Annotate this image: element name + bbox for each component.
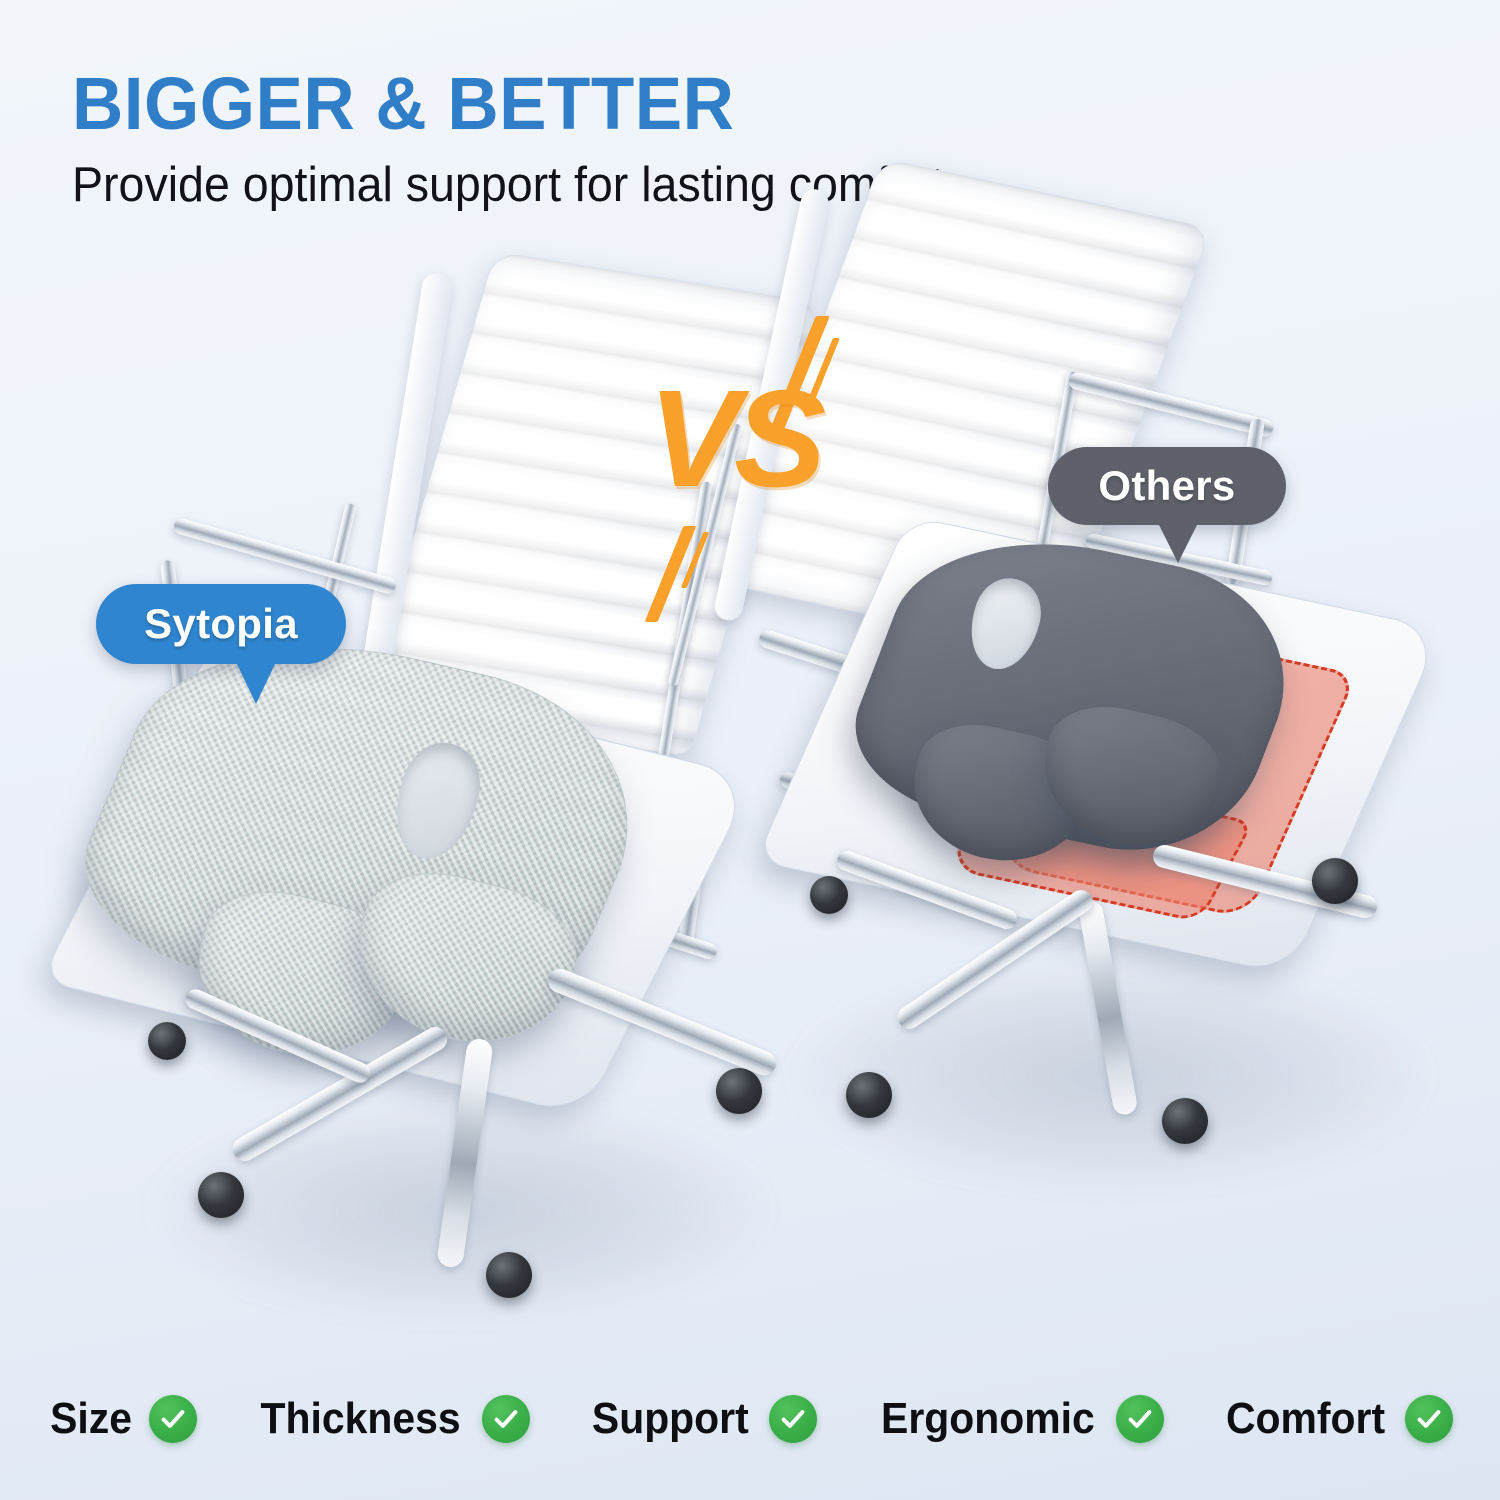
feature-label: Thickness <box>260 1394 460 1444</box>
others-brand-callout: Others <box>1048 447 1286 525</box>
left-chair-caster-right <box>716 1068 762 1114</box>
feature-label: Ergonomic <box>881 1394 1095 1444</box>
left-chair-caster-front <box>486 1252 532 1298</box>
feature-checklist: SizeThicknessSupportErgonomicComfort <box>0 1394 1500 1444</box>
check-circle-icon <box>1405 1395 1453 1443</box>
callout-tail-icon <box>1158 523 1198 563</box>
left-chair-caster-left <box>198 1172 244 1218</box>
right-chair-caster-rear <box>810 876 848 914</box>
callout-tail-icon <box>236 662 276 704</box>
feature-label: Size <box>50 1394 132 1444</box>
check-circle-icon <box>769 1395 817 1443</box>
right-chair-caster-right <box>1312 858 1358 904</box>
feature-label: Comfort <box>1226 1394 1385 1444</box>
feature-item: Support <box>586 1394 817 1444</box>
feature-label: Support <box>592 1394 749 1444</box>
feature-item: Ergonomic <box>873 1394 1165 1444</box>
right-chair-caster-left <box>846 1072 892 1118</box>
check-circle-icon <box>482 1395 530 1443</box>
vs-label: VS <box>648 370 820 508</box>
sytopia-brand-callout: Sytopia <box>96 584 346 664</box>
product-comparison-stage: VS Sytopia Others <box>0 0 1500 1500</box>
feature-item: Comfort <box>1220 1394 1453 1444</box>
right-chair-caster-front <box>1162 1098 1208 1144</box>
left-chair-caster-rear <box>148 1022 186 1060</box>
check-circle-icon <box>149 1395 197 1443</box>
feature-item: Thickness <box>253 1394 530 1444</box>
vs-badge: VS <box>636 318 896 618</box>
feature-item: Size <box>47 1394 197 1444</box>
others-brand-label: Others <box>1098 462 1235 510</box>
sytopia-brand-label: Sytopia <box>144 600 298 648</box>
check-circle-icon <box>1116 1395 1164 1443</box>
